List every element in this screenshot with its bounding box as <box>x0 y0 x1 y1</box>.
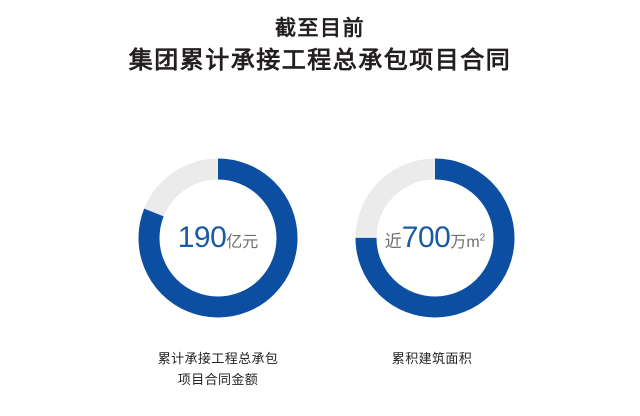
title-line-1: 截至目前 <box>0 14 640 44</box>
donut-chart-contract-amount: 190亿元 <box>128 148 308 328</box>
captions-row: 累计承接工程总承包 项目合同金额 累积建筑面积 <box>0 348 640 408</box>
donut-chart-building-area: 近700万m2 <box>345 148 525 328</box>
caption-line-1b: 项目合同金额 <box>118 369 318 390</box>
donut-charts-row: 190亿元 近700万m2 <box>0 148 640 338</box>
donut-svg-building-area <box>345 148 525 328</box>
infographic-canvas: 截至目前 集团累计承接工程总承包项目合同 190亿元 近700万m2 <box>0 0 640 416</box>
page-title: 集团累计承接工程总承包项目合同 <box>0 44 640 78</box>
title-block: 截至目前 集团累计承接工程总承包项目合同 <box>0 14 640 78</box>
caption-contract-amount: 累计承接工程总承包 项目合同金额 <box>118 348 318 390</box>
caption-line-2a: 累积建筑面积 <box>332 348 532 369</box>
caption-building-area: 累积建筑面积 <box>332 348 532 369</box>
caption-line-1a: 累计承接工程总承包 <box>118 348 318 369</box>
donut-svg-contract-amount <box>128 148 308 328</box>
